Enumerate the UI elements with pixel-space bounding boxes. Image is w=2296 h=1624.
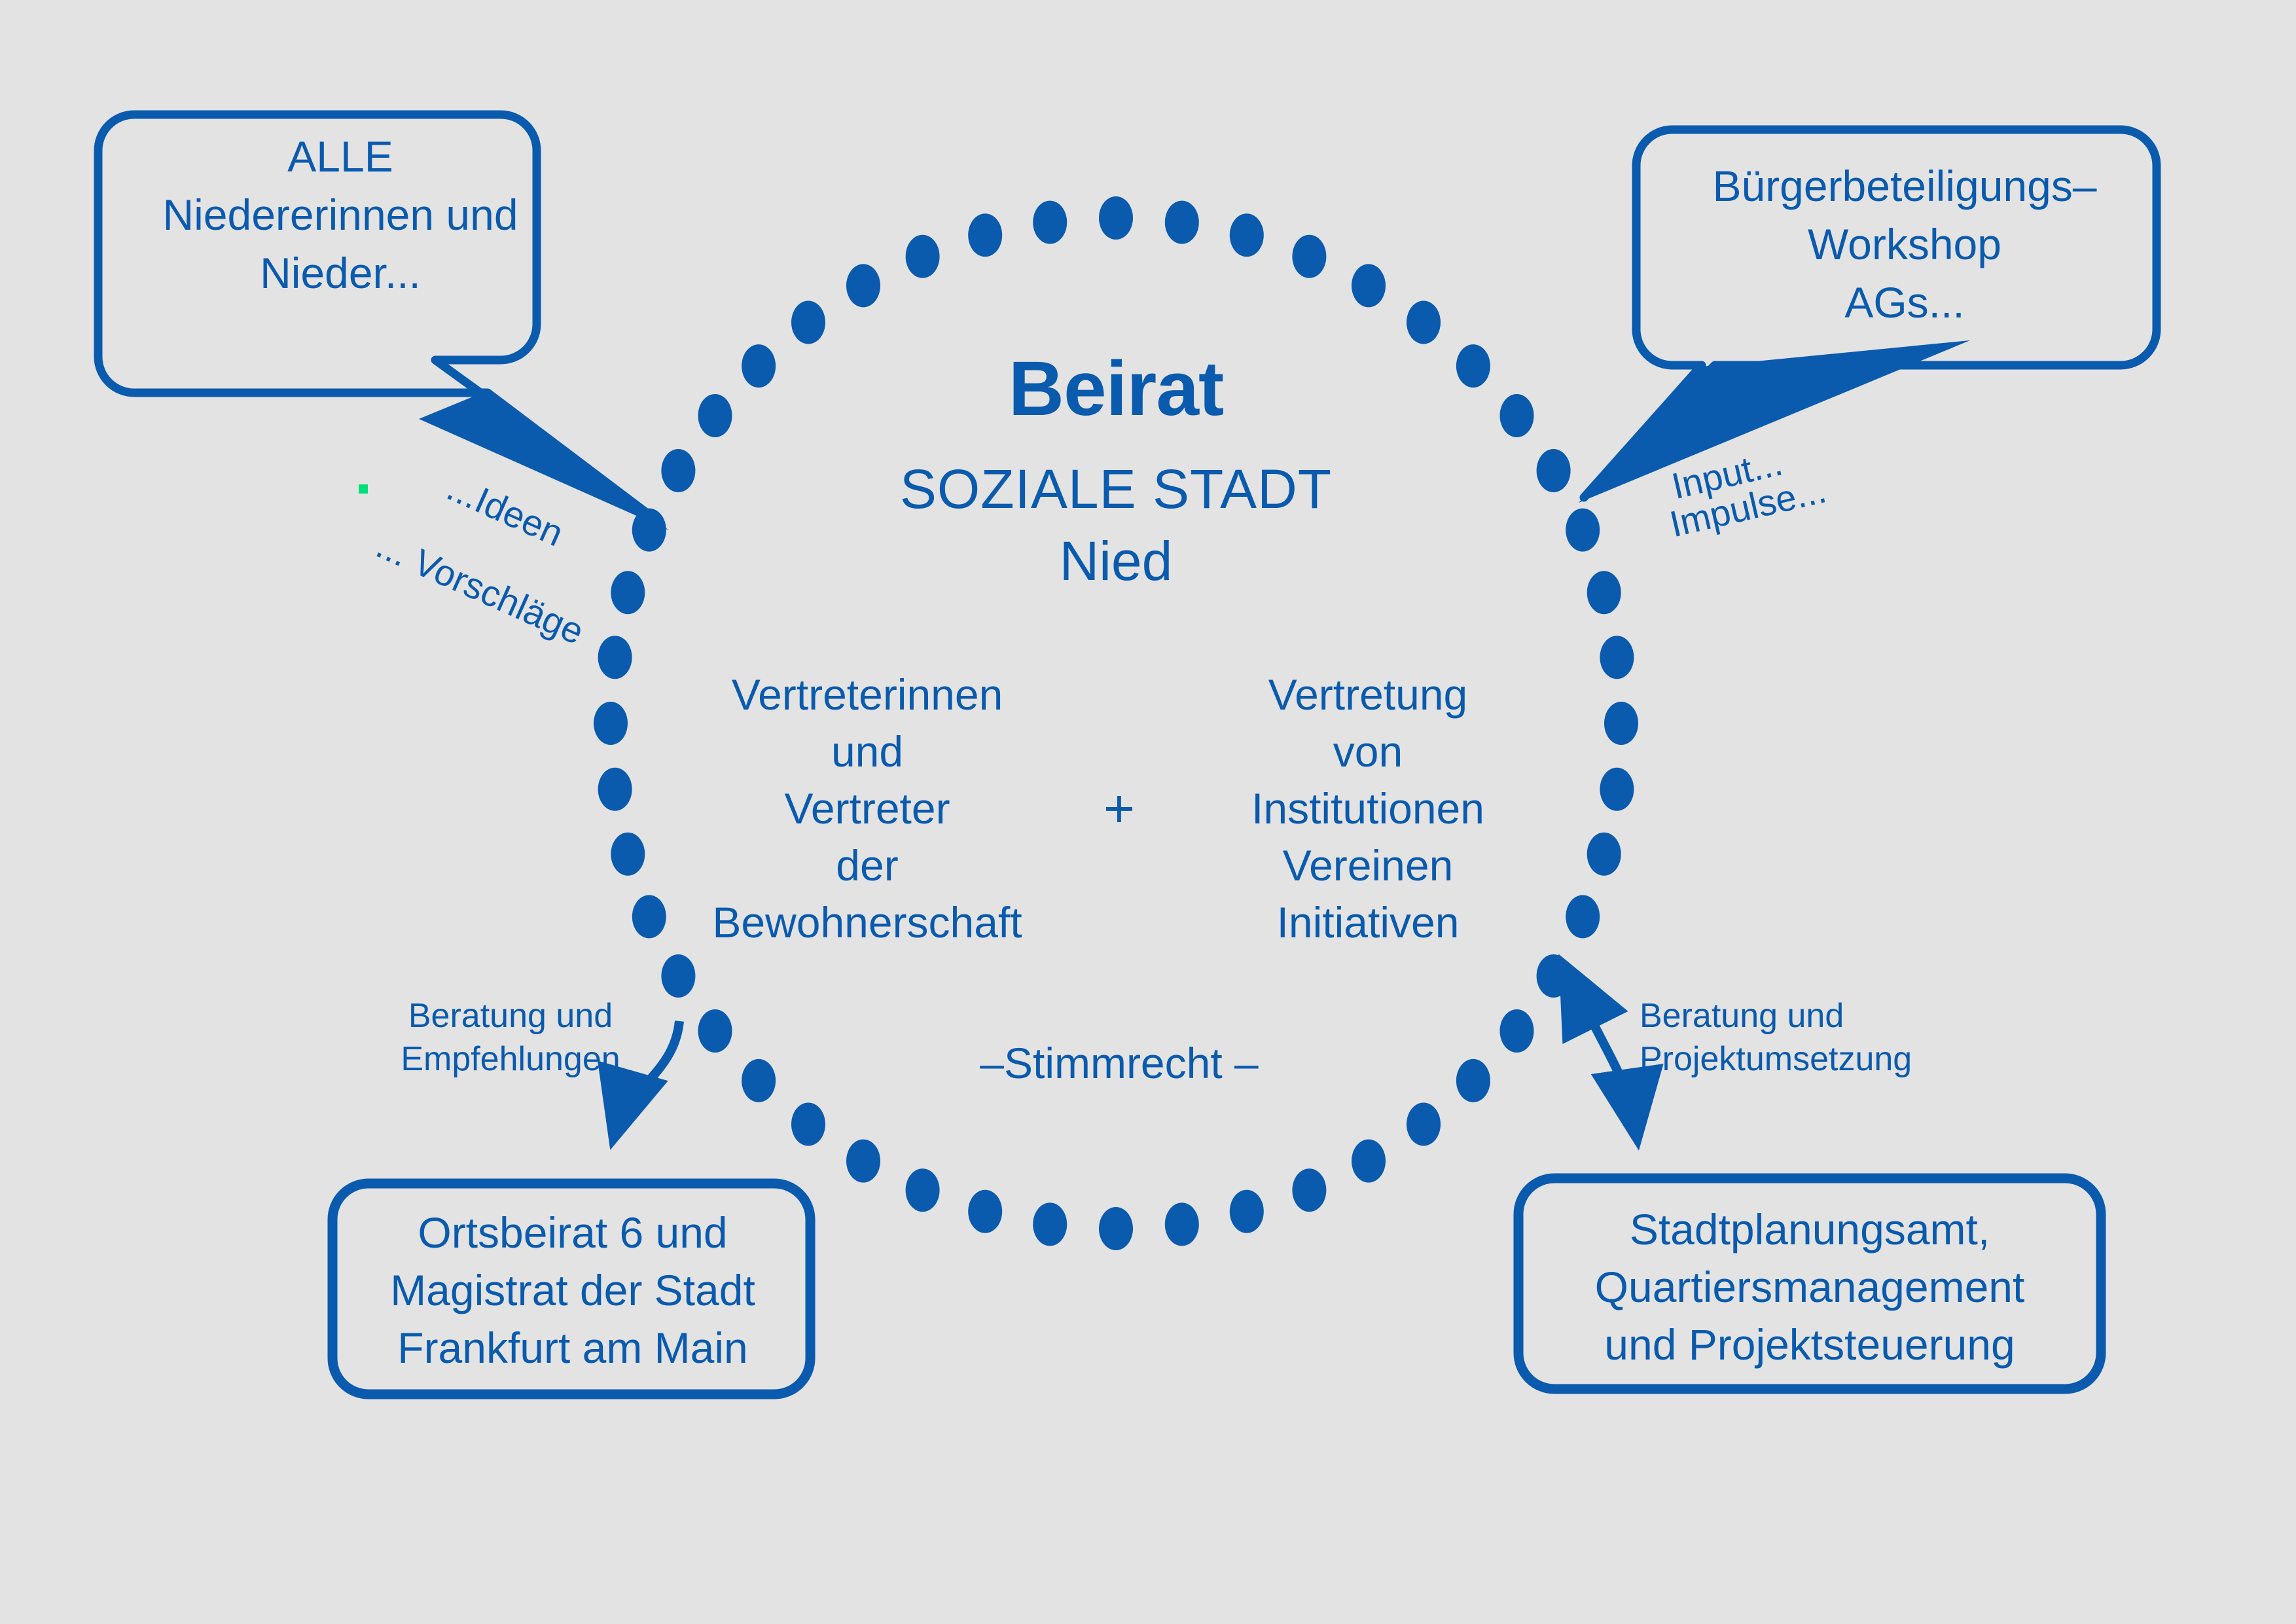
- ring-dot: [846, 1140, 880, 1183]
- ring-dot: [1230, 1190, 1264, 1233]
- ring-dot: [1456, 344, 1490, 388]
- ring-dot: [594, 702, 628, 745]
- ring-dot: [1456, 1059, 1490, 1102]
- label-beratung-empfehlungen: Beratung und Empfehlungen: [367, 995, 655, 1081]
- ring-dot: [791, 301, 825, 344]
- ring-dot: [1587, 571, 1621, 614]
- ring-dot: [1407, 1103, 1441, 1146]
- ring-dot: [661, 449, 695, 492]
- green-marker-dot: [359, 484, 368, 494]
- ring-dot: [742, 344, 776, 388]
- voting-rights-note: –Stimmrecht –: [916, 1039, 1322, 1087]
- ring-dot: [906, 1168, 940, 1212]
- plus-icon: +: [1060, 782, 1178, 836]
- ring-dot: [1537, 449, 1571, 492]
- ring-dot: [1099, 196, 1133, 240]
- ring-dot: [1600, 768, 1634, 811]
- ring-dot: [1099, 1207, 1133, 1250]
- ring-dot: [968, 1190, 1002, 1233]
- ring-dot: [1566, 509, 1600, 552]
- ring-dot: [611, 833, 645, 876]
- arrow-beratung-projektumsetzung: [1587, 1011, 1636, 1132]
- ring-dot: [1566, 895, 1600, 938]
- ring-dot: [1500, 1009, 1534, 1053]
- ring-dot: [698, 394, 732, 437]
- ring-dot: [1292, 1168, 1326, 1212]
- ring-dot: [791, 1103, 825, 1146]
- ring-dot: [598, 636, 632, 679]
- ring-dot: [1033, 201, 1067, 244]
- bubble-participation-label: Bürgerbeteiligungs– Workshop AGs...: [1676, 157, 2134, 332]
- ring-dot: [611, 571, 645, 614]
- program-name-line1: SOZIALE STADT: [789, 458, 1443, 520]
- ring-dot: [1600, 636, 1634, 679]
- box-ortsbeirat-label: Ortsbeirat 6 und Magistrat der Stadt Fra…: [340, 1204, 805, 1377]
- ring-dot: [1407, 301, 1441, 344]
- bubble-residents-label: ALLE Niedererinnen und Nieder...: [98, 128, 583, 302]
- ring-dot: [1537, 954, 1571, 998]
- box-stadtplanungsamt-label: Stadtplanungsamt, Quartiersmanagement un…: [1525, 1201, 2094, 1373]
- ring-dot: [1230, 213, 1264, 257]
- ring-dot: [632, 895, 666, 938]
- ring-dot: [1604, 702, 1638, 745]
- members-column-institutions: Vertretung von Institutionen Vereinen In…: [1191, 666, 1545, 952]
- ring-dot: [698, 1009, 732, 1053]
- ring-dot: [1165, 201, 1199, 244]
- program-name-line2: Nied: [789, 530, 1443, 592]
- label-beratung-projektumsetzung: Beratung und Projektumsetzung: [1640, 995, 1967, 1081]
- ring-dot: [1587, 833, 1621, 876]
- diagram-canvas: Beirat SOZIALE STADT Nied Vertreterinnen…: [0, 0, 2296, 1624]
- ring-dot: [1033, 1202, 1067, 1246]
- members-column-residents: Vertreterinnen und Vertreter der Bewohne…: [691, 666, 1044, 952]
- ring-dot: [598, 768, 632, 811]
- ring-dot: [742, 1059, 776, 1102]
- ring-dot: [846, 264, 880, 307]
- ring-dot: [1165, 1202, 1199, 1246]
- ring-dot: [968, 213, 1002, 257]
- ring-dot: [661, 954, 695, 998]
- ring-dot: [1352, 264, 1386, 307]
- ring-dot: [1352, 1140, 1386, 1183]
- ring-dot: [1500, 394, 1534, 437]
- ring-dot: [906, 235, 940, 278]
- ring-dot: [1292, 235, 1326, 278]
- page-title: Beirat: [789, 350, 1443, 427]
